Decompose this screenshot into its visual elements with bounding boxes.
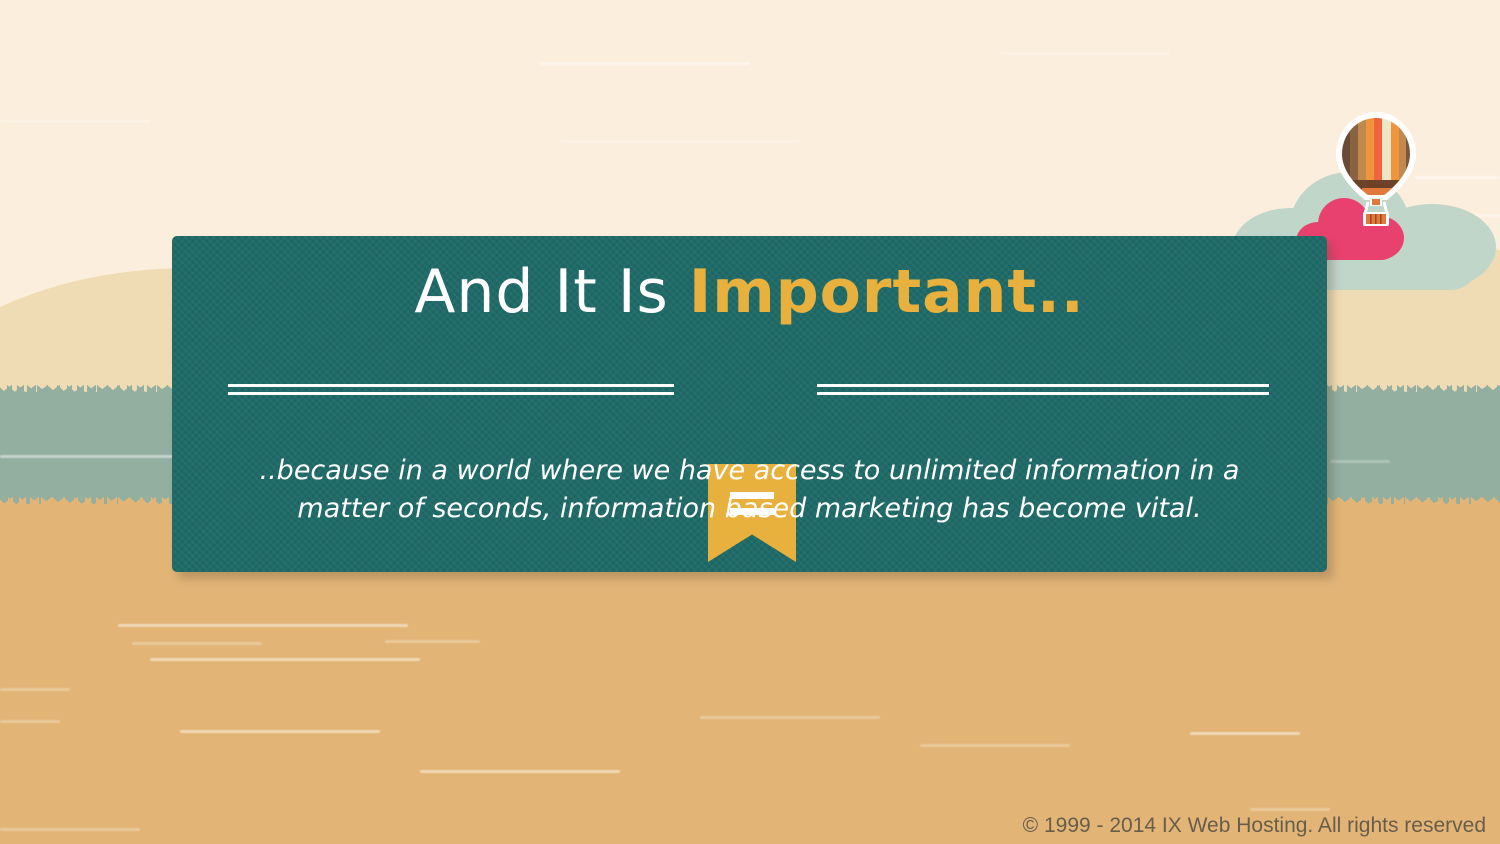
- copyright-footer: © 1999 - 2014 IX Web Hosting. All rights…: [1023, 814, 1486, 838]
- brush-streak: [118, 624, 408, 627]
- brush-streak: [0, 828, 140, 831]
- brush-streak: [1000, 52, 1170, 55]
- brush-streak: [700, 716, 880, 719]
- brush-streak: [560, 140, 800, 143]
- brush-streak: [920, 744, 1070, 747]
- brush-streak: [180, 730, 380, 733]
- hot-air-balloon-icon: [1332, 110, 1420, 230]
- brush-streak: [0, 720, 60, 723]
- divider-row: [172, 352, 1327, 462]
- brush-streak: [1330, 460, 1390, 463]
- content-card: And It Is Important.. ..because in a wor…: [172, 236, 1327, 572]
- brush-streak: [0, 120, 150, 123]
- brush-streak: [150, 658, 420, 661]
- brush-streak: [0, 688, 70, 691]
- divider-line-left: [228, 384, 674, 395]
- page-title: And It Is Important..: [172, 260, 1327, 324]
- brush-streak: [540, 62, 750, 65]
- body-paragraph: ..because in a world where we have acces…: [232, 452, 1267, 528]
- divider-line-right: [817, 384, 1269, 395]
- brush-streak: [420, 770, 620, 773]
- brush-streak: [385, 640, 480, 643]
- title-emphasis-text: Important..: [689, 257, 1085, 327]
- slide-canvas: And It Is Important.. ..because in a wor…: [0, 0, 1500, 844]
- brush-streak: [1250, 808, 1330, 811]
- title-plain-text: And It Is: [414, 257, 689, 327]
- brush-streak: [1190, 732, 1300, 735]
- brush-streak: [132, 642, 262, 645]
